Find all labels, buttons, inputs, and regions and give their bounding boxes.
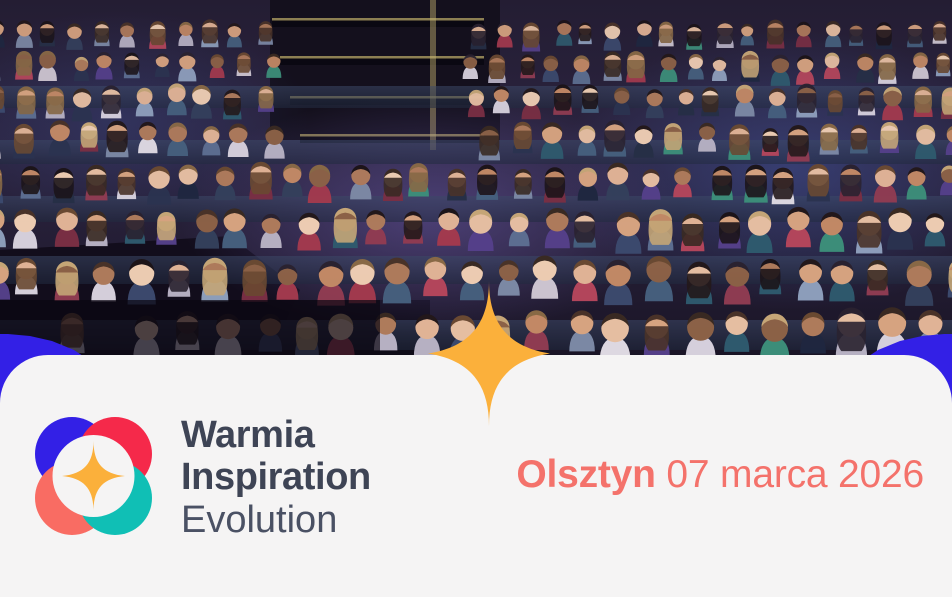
- wordmark: Warmia Inspiration Evolution: [181, 414, 371, 539]
- event-city: Olsztyn: [516, 453, 655, 496]
- brand-bar: Warmia Inspiration Evolution Olsztyn 07 …: [0, 355, 952, 597]
- hero-photo: [0, 0, 952, 400]
- brand-tagline: Evolution: [181, 501, 371, 539]
- four-circles-sparkle-logo-icon: [26, 411, 160, 541]
- event-date: 07 marca 2026: [666, 453, 924, 496]
- brand-name-line2: Inspiration: [181, 458, 371, 496]
- logo-lockup: Warmia Inspiration Evolution: [26, 411, 371, 541]
- event-poster: Warmia Inspiration Evolution Olsztyn 07 …: [0, 0, 952, 597]
- event-details: Olsztyn 07 marca 2026: [516, 453, 924, 499]
- brand-name-line1: Warmia: [181, 416, 371, 454]
